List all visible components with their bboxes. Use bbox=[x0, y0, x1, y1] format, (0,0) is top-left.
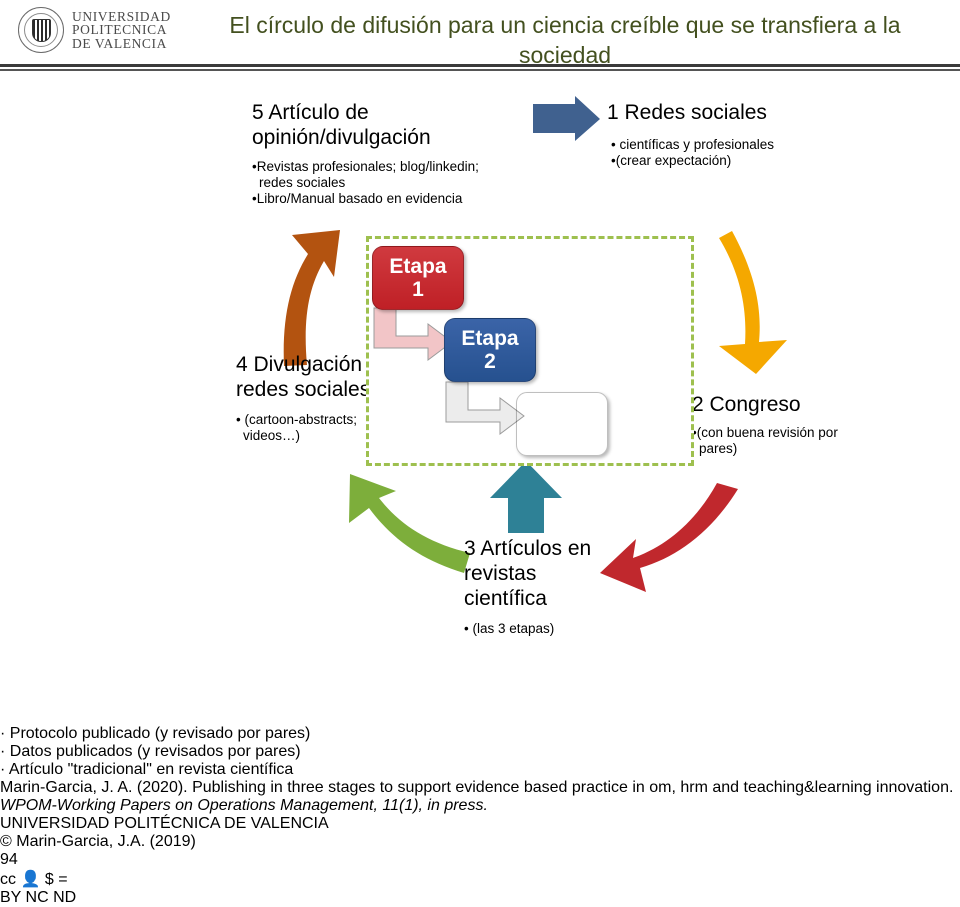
citation-box: Marin-Garcia, J. A. (2020). Publishing i… bbox=[0, 779, 960, 815]
cc-glyph-row: cc 👤 $ = bbox=[0, 869, 960, 889]
stage-1-number: 1 bbox=[412, 278, 424, 301]
node-4-bullet-1: • (cartoon-abstracts; videos…) bbox=[236, 412, 371, 444]
citation-text: Marin-Garcia, J. A. (2020). Publishing i… bbox=[0, 779, 953, 796]
node-5-heading: 5 Artículo de opinión/divulgación bbox=[252, 100, 507, 150]
node-1-heading: 1 Redes sociales bbox=[607, 100, 792, 125]
elbow-arrow-stage2-to-stage3 bbox=[446, 382, 524, 434]
node-divulgacion-redes: 4 Divulgación redes sociales • (cartoon-… bbox=[236, 352, 371, 444]
upv-seal-icon bbox=[18, 7, 64, 53]
node-1-bullet-1: • científicas y profesionales bbox=[611, 137, 792, 153]
slide: UNIVERSIDAD POLITECNICA DE VALENCIA El c… bbox=[0, 0, 960, 720]
teal-arrow-to-core bbox=[490, 461, 562, 533]
node-1-bullet-2: •(crear expectación) bbox=[611, 153, 792, 169]
header-divider-thin bbox=[0, 69, 960, 71]
node-4-heading: 4 Divulgación redes sociales bbox=[236, 352, 371, 402]
citation-source: WPOM-Working Papers on Operations Manage… bbox=[0, 797, 488, 814]
node-5-bullet-2: •Libro/Manual basado en evidencia bbox=[252, 191, 507, 207]
stage-2-note-bullet-icon: · bbox=[0, 743, 5, 760]
footer-copyright: © Marin-Garcia, J.A. (2019) bbox=[0, 833, 960, 851]
stage-2-number: 2 bbox=[484, 350, 496, 373]
brown-arrow-to-articulo-opinion bbox=[284, 230, 340, 366]
elbow-arrow-stage1-to-stage2 bbox=[374, 308, 452, 360]
cc-nc-icon: $ bbox=[45, 871, 54, 888]
stage-3-note-bullet-icon: · bbox=[0, 761, 5, 778]
stage-box-2: Etapa 2 bbox=[444, 318, 536, 382]
footer-university: UNIVERSIDAD POLITÉCNICA DE VALENCIA bbox=[0, 815, 960, 833]
upv-logo: UNIVERSIDAD POLITECNICA DE VALENCIA bbox=[18, 5, 193, 55]
node-3-heading: 3 Artículos en revistas científica bbox=[464, 536, 599, 611]
stage-1-note-text: Protocolo publicado (y revisado por pare… bbox=[10, 725, 311, 742]
yellow-arrow-to-congreso bbox=[719, 231, 787, 374]
header-divider-thick bbox=[0, 64, 960, 67]
node-5-bullet-1: •Revistas profesionales; blog/linkedin; … bbox=[252, 159, 507, 191]
node-redes-sociales: 1 Redes sociales • científicas y profesi… bbox=[607, 100, 792, 169]
logo-line-1: UNIVERSIDAD bbox=[72, 10, 171, 24]
node-4-bullets: • (cartoon-abstracts; videos…) bbox=[236, 412, 371, 444]
stage-3-name: Etapa bbox=[533, 401, 590, 424]
page-number: 94 bbox=[0, 851, 960, 869]
stage-3-note: · Artículo "tradicional" en revista cien… bbox=[0, 761, 960, 779]
node-2-bullets: •(con buena revisión por pares) bbox=[692, 425, 867, 457]
node-articulos-revistas: 3 Artículos en revistas científica • (la… bbox=[464, 536, 599, 637]
node-3-bullet-1: • (las 3 etapas) bbox=[464, 621, 599, 637]
upv-logo-text: UNIVERSIDAD POLITECNICA DE VALENCIA bbox=[72, 10, 171, 51]
node-1-bullets: • científicas y profesionales •(crear ex… bbox=[611, 137, 792, 169]
stage-2-name: Etapa bbox=[461, 327, 518, 350]
node-congreso: 2 Congreso •(con buena revisión por pare… bbox=[692, 392, 867, 457]
node-2-bullet-1: •(con buena revisión por pares) bbox=[692, 425, 867, 457]
node-3-bullets: • (las 3 etapas) bbox=[464, 621, 599, 637]
node-articulo-opinion: 5 Artículo de opinión/divulgación •Revis… bbox=[252, 100, 507, 207]
green-arrow-to-divulgacion bbox=[349, 474, 470, 573]
page-title: El círculo de difusión para un ciencia c… bbox=[195, 10, 935, 70]
cc-nd-label: ND bbox=[53, 889, 76, 906]
blue-arrow-to-redes-sociales bbox=[533, 96, 600, 141]
stage-box-1: Etapa 1 bbox=[372, 246, 464, 310]
node-5-bullets: •Revistas profesionales; blog/linkedin; … bbox=[252, 159, 507, 207]
logo-line-2: POLITECNICA bbox=[72, 23, 171, 37]
stage-1-note: · Protocolo publicado (y revisado por pa… bbox=[0, 725, 960, 743]
logo-line-3: DE VALENCIA bbox=[72, 37, 171, 51]
stage-1-name: Etapa bbox=[389, 255, 446, 278]
creative-commons-badge[interactable]: cc 👤 $ = BY NC ND bbox=[0, 869, 960, 907]
red-arrow-to-articulos bbox=[600, 483, 738, 592]
cc-nd-icon: = bbox=[58, 871, 67, 888]
cc-by-icon: 👤 bbox=[20, 871, 40, 888]
stage-1-note-bullet-icon: · bbox=[0, 725, 5, 742]
cc-nc-label: NC bbox=[26, 889, 49, 906]
stage-2-note: · Datos publicados (y revisados por pare… bbox=[0, 743, 960, 761]
cc-by-label: BY bbox=[0, 889, 21, 906]
stage-3-number: 3 bbox=[556, 424, 568, 447]
stage-3-note-text: Artículo "tradicional" en revista cientí… bbox=[9, 761, 293, 778]
cc-icon: cc bbox=[0, 871, 16, 888]
stage-box-3: Etapa 3 bbox=[516, 392, 608, 456]
node-2-heading: 2 Congreso bbox=[692, 392, 867, 417]
slide-header: UNIVERSIDAD POLITECNICA DE VALENCIA El c… bbox=[0, 0, 960, 70]
stage-2-note-text: Datos publicados (y revisados por pares) bbox=[10, 743, 301, 760]
cc-label-row: BY NC ND bbox=[0, 889, 960, 907]
